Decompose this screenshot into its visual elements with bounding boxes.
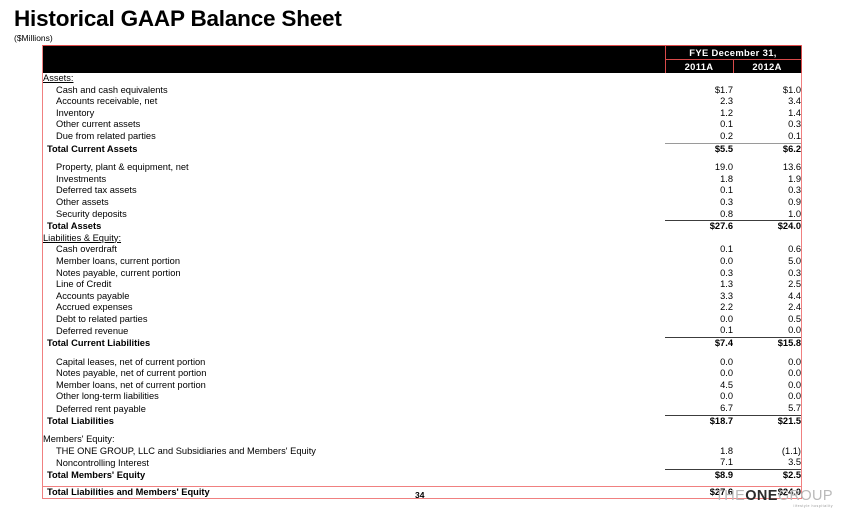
value-2011a: 3.3	[665, 291, 733, 303]
units-note: ($Millions)	[14, 33, 342, 44]
line-item-row: Security deposits0.81.0	[43, 209, 801, 221]
row-label: Total Liabilities and Members' Equity	[43, 486, 665, 498]
line-item-row: Cash and cash equivalents$1.7$1.0	[43, 85, 801, 97]
value-2011a: 7.1	[665, 457, 733, 469]
line-item-row: Member loans, net of current portion4.50…	[43, 380, 801, 392]
header-year-2012a: 2012A	[733, 60, 801, 74]
row-label: Liabilities & Equity:	[43, 233, 665, 245]
value-2012a: 0.5	[733, 314, 801, 326]
value-2011a: 0.8	[665, 209, 733, 221]
value-2012a: 1.9	[733, 174, 801, 186]
row-label: Other assets	[43, 197, 665, 209]
line-item-row: Notes payable, current portion0.30.3	[43, 268, 801, 280]
row-label: Deferred rent payable	[43, 403, 665, 415]
value-2012a: 5.0	[733, 256, 801, 268]
value-2012a: (1.1)	[733, 446, 801, 458]
value-2011a: 1.8	[665, 446, 733, 458]
row-label: Security deposits	[43, 209, 665, 221]
spacer-cell	[43, 427, 801, 434]
value-2012a: 2.5	[733, 279, 801, 291]
line-item-row: Inventory1.21.4	[43, 108, 801, 120]
section-label-text: Liabilities & Equity:	[43, 233, 121, 243]
header-period-label: FYE December 31,	[665, 46, 801, 60]
logo-wordmark: THEONEGROUP	[715, 489, 833, 504]
spacer-cell	[43, 155, 801, 162]
value-2012a: 0.0	[733, 357, 801, 369]
row-label: Member loans, net of current portion	[43, 380, 665, 392]
line-item-row: Deferred tax assets0.10.3	[43, 185, 801, 197]
value-2012a: 3.5	[733, 457, 801, 469]
value-2011a: 2.2	[665, 302, 733, 314]
title-block: Historical GAAP Balance Sheet ($Millions…	[14, 6, 342, 44]
section-header-row: Liabilities & Equity:	[43, 233, 801, 245]
value-2011a: 0.0	[665, 391, 733, 403]
row-label: Accounts payable	[43, 291, 665, 303]
line-item-row: Other long-term liabilities0.00.0	[43, 391, 801, 403]
value-2012a: 4.4	[733, 291, 801, 303]
value-2012a: 2.4	[733, 302, 801, 314]
value-2011a: 0.1	[665, 244, 733, 256]
value-2011a: $1.7	[665, 85, 733, 97]
value-2012a: 5.7	[733, 403, 801, 415]
line-item-row: Debt to related parties0.00.5	[43, 314, 801, 326]
row-label: Total Current Liabilities	[43, 338, 665, 350]
line-item-row: Property, plant & equipment, net19.013.6	[43, 162, 801, 174]
value-2012a	[733, 233, 801, 245]
header-year-2011a: 2011A	[665, 60, 733, 74]
value-2012a: 1.0	[733, 209, 801, 221]
line-item-row: Due from related parties0.20.1	[43, 131, 801, 143]
row-label: Other long-term liabilities	[43, 391, 665, 403]
value-2011a: 2.3	[665, 96, 733, 108]
value-2011a: 6.7	[665, 403, 733, 415]
logo-one: ONE	[745, 488, 778, 504]
line-item-row: Member loans, current portion0.05.0	[43, 256, 801, 268]
value-2012a: 0.3	[733, 119, 801, 131]
value-2012a: 13.6	[733, 162, 801, 174]
value-2012a: 0.0	[733, 391, 801, 403]
line-item-row: Investments1.81.9	[43, 174, 801, 186]
subtotal-row: Total Assets$27.6$24.0	[43, 221, 801, 233]
line-item-row: Noncontrolling Interest7.13.5	[43, 457, 801, 469]
value-2011a: $18.7	[665, 415, 733, 427]
logo-tagline: lifestyle hospitality	[715, 505, 833, 509]
value-2011a: $5.5	[665, 143, 733, 155]
header-blank-cell	[43, 46, 665, 60]
value-2011a: $8.9	[665, 470, 733, 482]
value-2012a	[733, 73, 801, 85]
financial-table: FYE December 31, 2011A 2012A Assets:Cash…	[43, 46, 802, 498]
value-2012a: $24.0	[733, 221, 801, 233]
value-2011a	[665, 233, 733, 245]
section-header-row: Assets:	[43, 73, 801, 85]
row-label: Noncontrolling Interest	[43, 457, 665, 469]
line-item-row: Other assets0.30.9	[43, 197, 801, 209]
value-2011a	[665, 73, 733, 85]
spacer-row	[43, 427, 801, 434]
row-label: Accrued expenses	[43, 302, 665, 314]
spacer-row	[43, 350, 801, 357]
row-label: Investments	[43, 174, 665, 186]
subtotal-row: Total Current Assets$5.5$6.2	[43, 143, 801, 155]
value-2012a: $15.8	[733, 338, 801, 350]
value-2011a: 0.1	[665, 119, 733, 131]
value-2011a	[665, 434, 733, 446]
row-label: Members' Equity:	[43, 434, 665, 446]
row-label: Total Members' Equity	[43, 470, 665, 482]
value-2011a: 0.2	[665, 131, 733, 143]
line-item-row: Deferred revenue0.10.0	[43, 325, 801, 337]
value-2011a: 0.0	[665, 357, 733, 369]
value-2011a: 1.3	[665, 279, 733, 291]
row-label: Notes payable, current portion	[43, 268, 665, 280]
value-2011a: 0.0	[665, 314, 733, 326]
value-2012a: 0.9	[733, 197, 801, 209]
row-label: Notes payable, net of current portion	[43, 368, 665, 380]
header-blank-cell-2	[43, 60, 665, 74]
row-label: Total Assets	[43, 221, 665, 233]
row-label: Deferred tax assets	[43, 185, 665, 197]
row-label: Member loans, current portion	[43, 256, 665, 268]
row-label: Other current assets	[43, 119, 665, 131]
value-2012a: $6.2	[733, 143, 801, 155]
line-item-row: Accounts payable3.34.4	[43, 291, 801, 303]
value-2012a: $1.0	[733, 85, 801, 97]
line-item-row: Deferred rent payable6.75.7	[43, 403, 801, 415]
value-2011a: $7.4	[665, 338, 733, 350]
value-2012a: 0.0	[733, 325, 801, 337]
value-2011a: 0.3	[665, 268, 733, 280]
row-label: Due from related parties	[43, 131, 665, 143]
row-label: THE ONE GROUP, LLC and Subsidiaries and …	[43, 446, 665, 458]
line-item-row: Accrued expenses2.22.4	[43, 302, 801, 314]
value-2011a: 1.2	[665, 108, 733, 120]
header-row-years: 2011A 2012A	[43, 60, 801, 74]
value-2011a: 0.1	[665, 325, 733, 337]
row-label: Assets:	[43, 73, 665, 85]
line-item-row: Accounts receivable, net2.33.4	[43, 96, 801, 108]
value-2012a: 0.3	[733, 268, 801, 280]
section-label-text: Assets:	[43, 73, 73, 83]
value-2011a: 0.0	[665, 256, 733, 268]
subtotal-row: Total Current Liabilities$7.4$15.8	[43, 338, 801, 350]
spacer-cell	[43, 350, 801, 357]
value-2012a: 0.0	[733, 368, 801, 380]
value-2011a: 19.0	[665, 162, 733, 174]
value-2012a: 0.0	[733, 380, 801, 392]
section-header-row: Members' Equity:	[43, 434, 801, 446]
row-label: Total Liabilities	[43, 415, 665, 427]
row-label: Cash overdraft	[43, 244, 665, 256]
spacer-row	[43, 155, 801, 162]
row-label: Property, plant & equipment, net	[43, 162, 665, 174]
line-item-row: Notes payable, net of current portion0.0…	[43, 368, 801, 380]
value-2012a: $2.5	[733, 470, 801, 482]
line-item-row: THE ONE GROUP, LLC and Subsidiaries and …	[43, 446, 801, 458]
value-2011a: 0.0	[665, 368, 733, 380]
value-2012a: 1.4	[733, 108, 801, 120]
row-label: Total Current Assets	[43, 143, 665, 155]
value-2011a: 1.8	[665, 174, 733, 186]
balance-sheet-table: FYE December 31, 2011A 2012A Assets:Cash…	[42, 45, 802, 499]
value-2012a: 0.6	[733, 244, 801, 256]
row-label: Deferred revenue	[43, 325, 665, 337]
row-label: Accounts receivable, net	[43, 96, 665, 108]
value-2012a: $21.5	[733, 415, 801, 427]
logo-the: THE	[715, 488, 745, 504]
header-row-period: FYE December 31,	[43, 46, 801, 60]
logo-group: GROUP	[778, 488, 833, 504]
row-label: Inventory	[43, 108, 665, 120]
value-2012a: 0.1	[733, 131, 801, 143]
line-item-row: Other current assets0.10.3	[43, 119, 801, 131]
value-2011a: $27.6	[665, 221, 733, 233]
value-2011a: 0.3	[665, 197, 733, 209]
table-header: FYE December 31, 2011A 2012A	[43, 46, 801, 73]
page-title: Historical GAAP Balance Sheet	[14, 6, 342, 32]
subtotal-row: Total Members' Equity$8.9$2.5	[43, 470, 801, 482]
line-item-row: Line of Credit1.32.5	[43, 279, 801, 291]
table-body: Assets:Cash and cash equivalents$1.7$1.0…	[43, 73, 801, 498]
value-2011a: 4.5	[665, 380, 733, 392]
line-item-row: Cash overdraft0.10.6	[43, 244, 801, 256]
subtotal-row: Total Liabilities$18.7$21.5	[43, 415, 801, 427]
line-item-row: Capital leases, net of current portion0.…	[43, 357, 801, 369]
row-label: Line of Credit	[43, 279, 665, 291]
value-2012a: 0.3	[733, 185, 801, 197]
page-number: 34	[415, 490, 424, 500]
value-2012a: 3.4	[733, 96, 801, 108]
row-label: Cash and cash equivalents	[43, 85, 665, 97]
value-2012a	[733, 434, 801, 446]
row-label: Debt to related parties	[43, 314, 665, 326]
value-2011a: 0.1	[665, 185, 733, 197]
company-logo: THEONEGROUP lifestyle hospitality	[715, 489, 833, 509]
row-label: Capital leases, net of current portion	[43, 357, 665, 369]
